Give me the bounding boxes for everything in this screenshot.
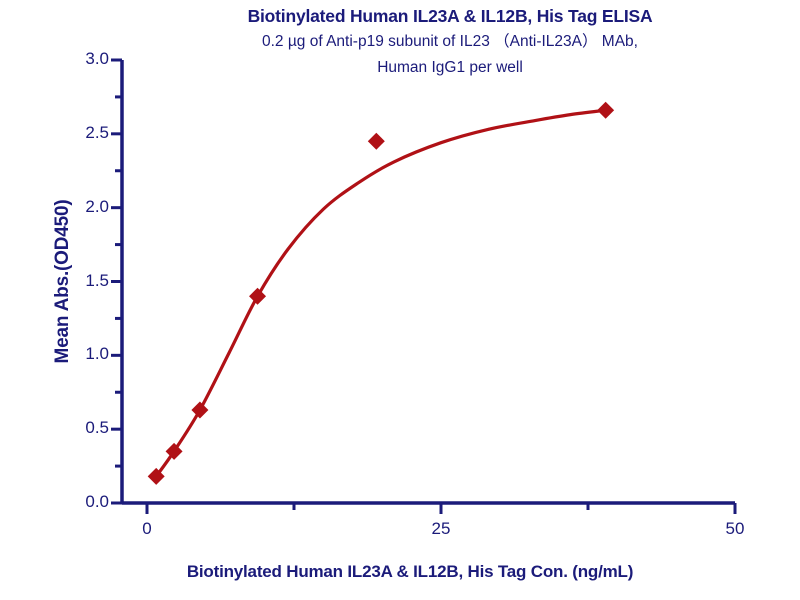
y-tick-label: 3.0 [49, 49, 109, 69]
data-point-marker [368, 133, 385, 150]
axes-group [111, 60, 735, 514]
data-point-marker [191, 401, 208, 418]
x-tick-label: 25 [411, 519, 471, 539]
data-point-marker [597, 102, 614, 119]
fit-curve-group [156, 110, 605, 476]
y-tick-label: 1.0 [49, 344, 109, 364]
y-tick-label: 1.5 [49, 271, 109, 291]
x-axis-title: Biotinylated Human IL23A & IL12B, His Ta… [60, 562, 760, 582]
y-tick-label: 2.5 [49, 123, 109, 143]
fit-curve [156, 110, 605, 476]
x-tick-label: 50 [705, 519, 765, 539]
y-tick-label: 0.0 [49, 492, 109, 512]
y-tick-label: 0.5 [49, 418, 109, 438]
data-marker-group [148, 102, 614, 485]
plot-area [0, 0, 800, 600]
x-tick-label: 0 [117, 519, 177, 539]
data-point-marker [249, 288, 266, 305]
y-tick-label: 2.0 [49, 197, 109, 217]
elisa-chart-figure: Biotinylated Human IL23A & IL12B, His Ta… [0, 0, 800, 600]
